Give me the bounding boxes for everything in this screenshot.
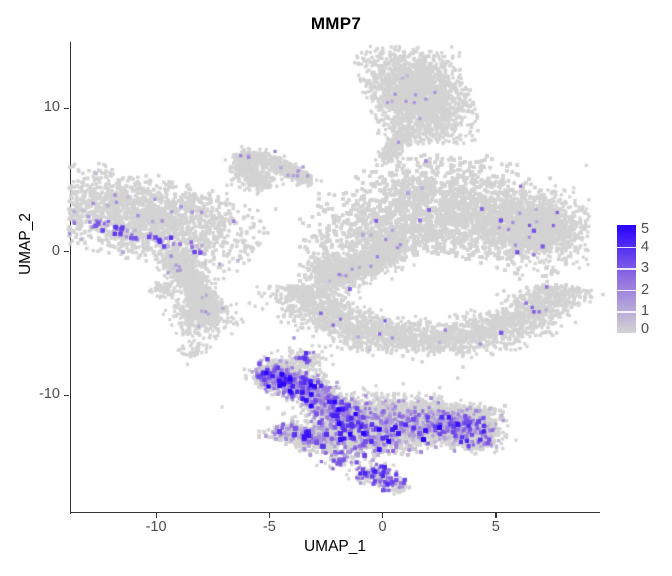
x-tick-label: 5 [492,519,500,535]
y-tick-label: -10 [12,386,60,402]
x-tick-mark [156,513,157,518]
scatter-points-canvas [0,0,672,576]
colorbar-tick-mark [617,290,636,291]
x-tick-mark [495,513,496,518]
y-tick-mark [64,395,69,396]
colorbar-tick-label: 4 [641,239,649,254]
colorbar-gradient [617,225,636,333]
colorbar-tick-label: 5 [641,222,649,237]
y-tick-mark [64,251,69,252]
colorbar-tick-mark [617,268,636,269]
colorbar-tick-label: 0 [641,322,649,337]
colorbar-tick-mark [617,311,636,312]
y-axis-label: UMAP_2 [17,134,35,354]
x-tick-label: -5 [263,519,276,535]
x-axis-label: UMAP_1 [70,538,600,556]
colorbar-tick-mark [617,247,636,248]
feature-plot-figure: MMP7 100-10 -10-505 UMAP_1 UMAP_2 543210 [0,0,672,576]
x-tick-label: 0 [379,519,387,535]
y-tick-mark [64,108,69,109]
y-tick-label: 10 [12,99,60,115]
colorbar-tick-label: 2 [641,283,649,298]
x-tick-label: -10 [146,519,167,535]
colorbar-tick-label: 1 [641,304,649,319]
x-tick-mark [269,513,270,518]
x-tick-mark [382,513,383,518]
colorbar-tick-label: 3 [641,261,649,276]
